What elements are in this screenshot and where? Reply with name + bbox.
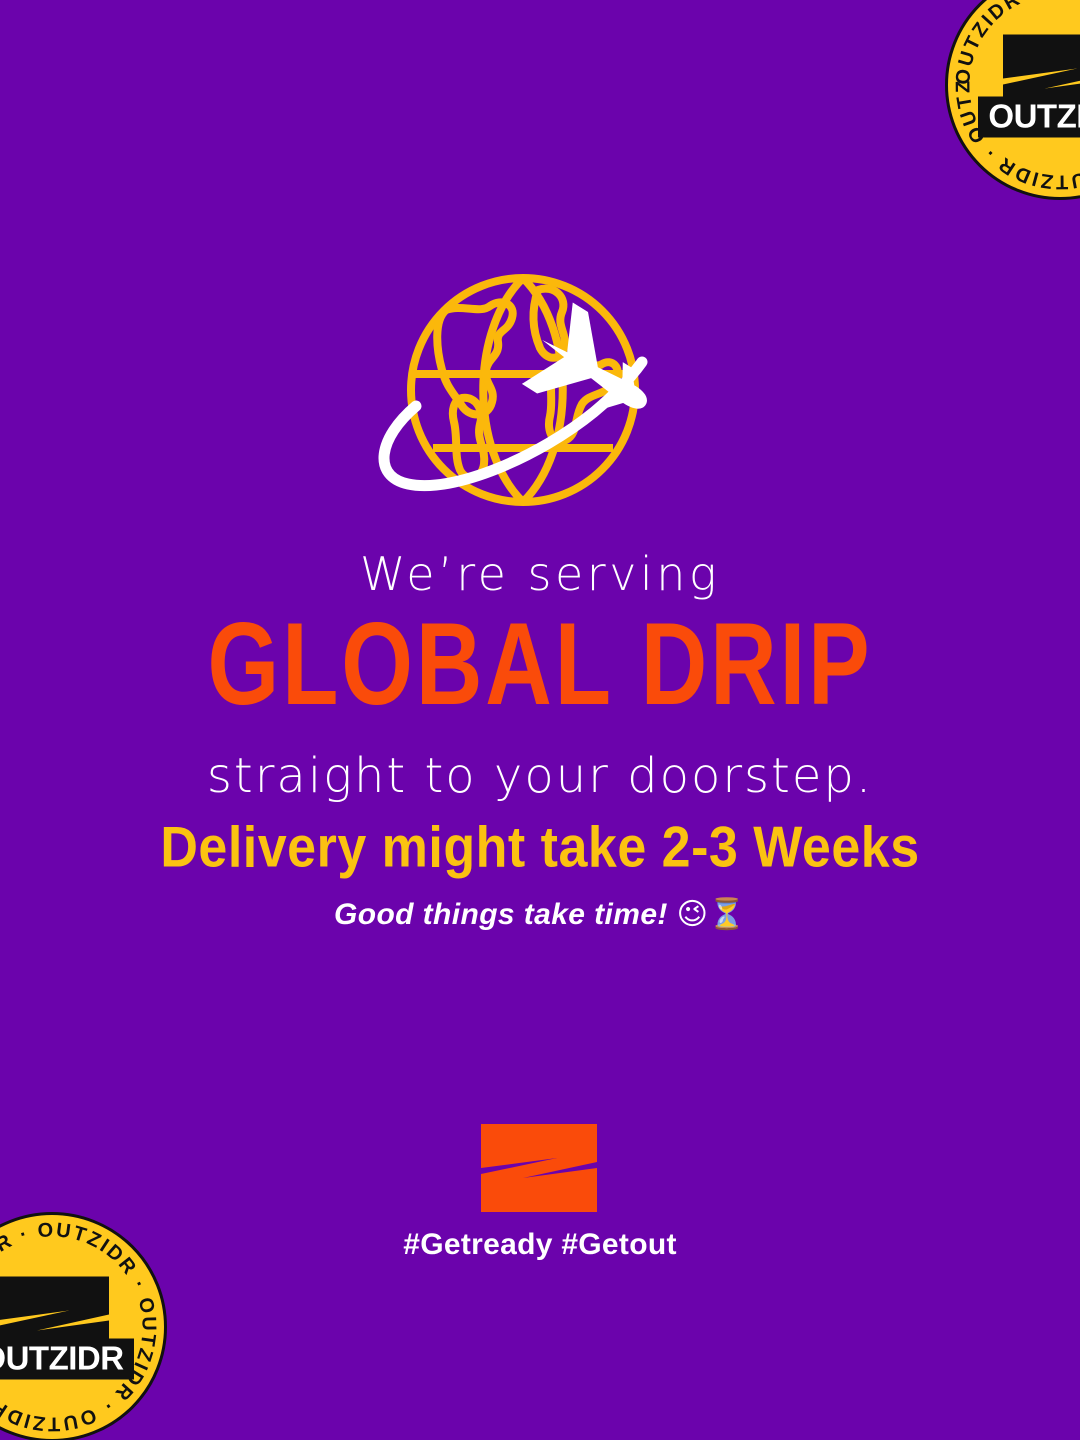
hero-subhead: straight to your doorstep.	[0, 749, 1080, 804]
footer-hashtags: #Getready #Getout	[403, 1228, 677, 1262]
poster-canvas: OUTZIDR · OUTZIDR · OUTZIDR · OUTZIDR · …	[0, 0, 1080, 1440]
hero-text-block: We’re serving GLOBAL DRIP straight to yo…	[0, 548, 1080, 804]
footer-block: #Getready #Getout	[0, 1122, 1080, 1262]
delivery-notice-block: Delivery might take 2-3 Weeks Good thing…	[0, 820, 1080, 932]
hero-kicker: We’re serving	[0, 548, 1080, 601]
globe-with-airplane-icon	[350, 270, 720, 520]
badge-wordmark-top-right: OUTZIDR	[978, 97, 1080, 138]
badge-center-bottom-left: OUTZIDR	[0, 1275, 126, 1380]
winking-face-emoji-icon: 😉	[677, 897, 709, 932]
badge-center-top-right: OUTZIDR	[986, 33, 1080, 138]
hero-headline: GLOBAL DRIP	[22, 606, 1059, 723]
delivery-subtext-row: Good things take time! 😉⏳	[0, 897, 1080, 932]
delivery-subtext: Good things take time!	[334, 898, 668, 931]
delivery-headline: Delivery might take 2-3 Weeks	[0, 817, 1080, 880]
hourglass-emoji-icon: ⏳	[708, 897, 746, 932]
brand-badge-top-right: OUTZIDR · OUTZIDR · OUTZIDR · OUTZIDR · …	[945, 0, 1080, 200]
outzidr-z-logo-icon	[479, 1122, 601, 1214]
globe-icon	[411, 278, 635, 502]
badge-wordmark-bottom-left: OUTZIDR	[0, 1339, 134, 1380]
